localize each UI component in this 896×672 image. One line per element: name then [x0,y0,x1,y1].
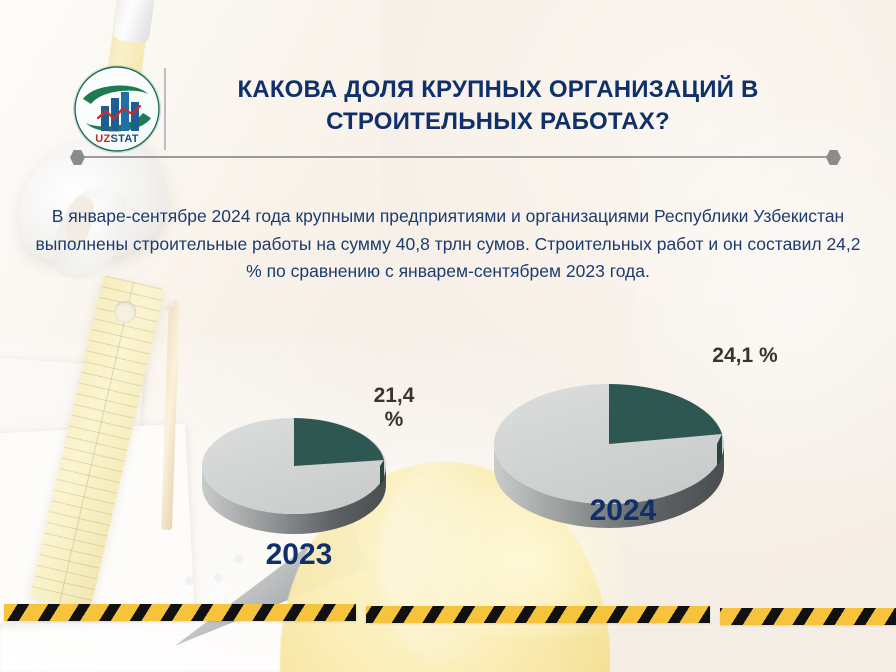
horizontal-divider [80,156,834,158]
page-title: КАКОВА ДОЛЯ КРУПНЫХ ОРГАНИЗАЦИЙ В СТРОИТ… [178,74,818,137]
uzstat-logo: UZSTAT [74,66,160,152]
hazard-tape-segment [366,606,710,623]
hazard-tape-segment [720,608,896,625]
infographic-poster: UZSTAT КАКОВА ДОЛЯ КРУПНЫХ ОРГАНИЗАЦИЙ В… [0,0,896,672]
body-paragraph: В январе-сентябре 2024 года крупными пре… [30,203,866,286]
pie-2024-year-label: 2024 [508,494,738,528]
logo-text-uz: UZ [95,133,110,145]
pie-2024-unit: % [759,344,778,367]
logo-text-stat: STAT [110,133,138,145]
pie-2023-year-label: 2023 [214,538,384,572]
pie-2023-unit: % [352,408,436,432]
logo-caption: UZSTAT [74,133,160,145]
pie-2024-value: 24,1 [712,344,753,367]
pie-2023-value: 21,4 [352,384,436,408]
hazard-tape-segment [4,604,356,621]
title-vertical-divider [164,68,166,150]
pie-2023-value-label: 21,4 % [352,384,436,431]
pie-2024-value-label: 24,1 % [690,344,800,368]
